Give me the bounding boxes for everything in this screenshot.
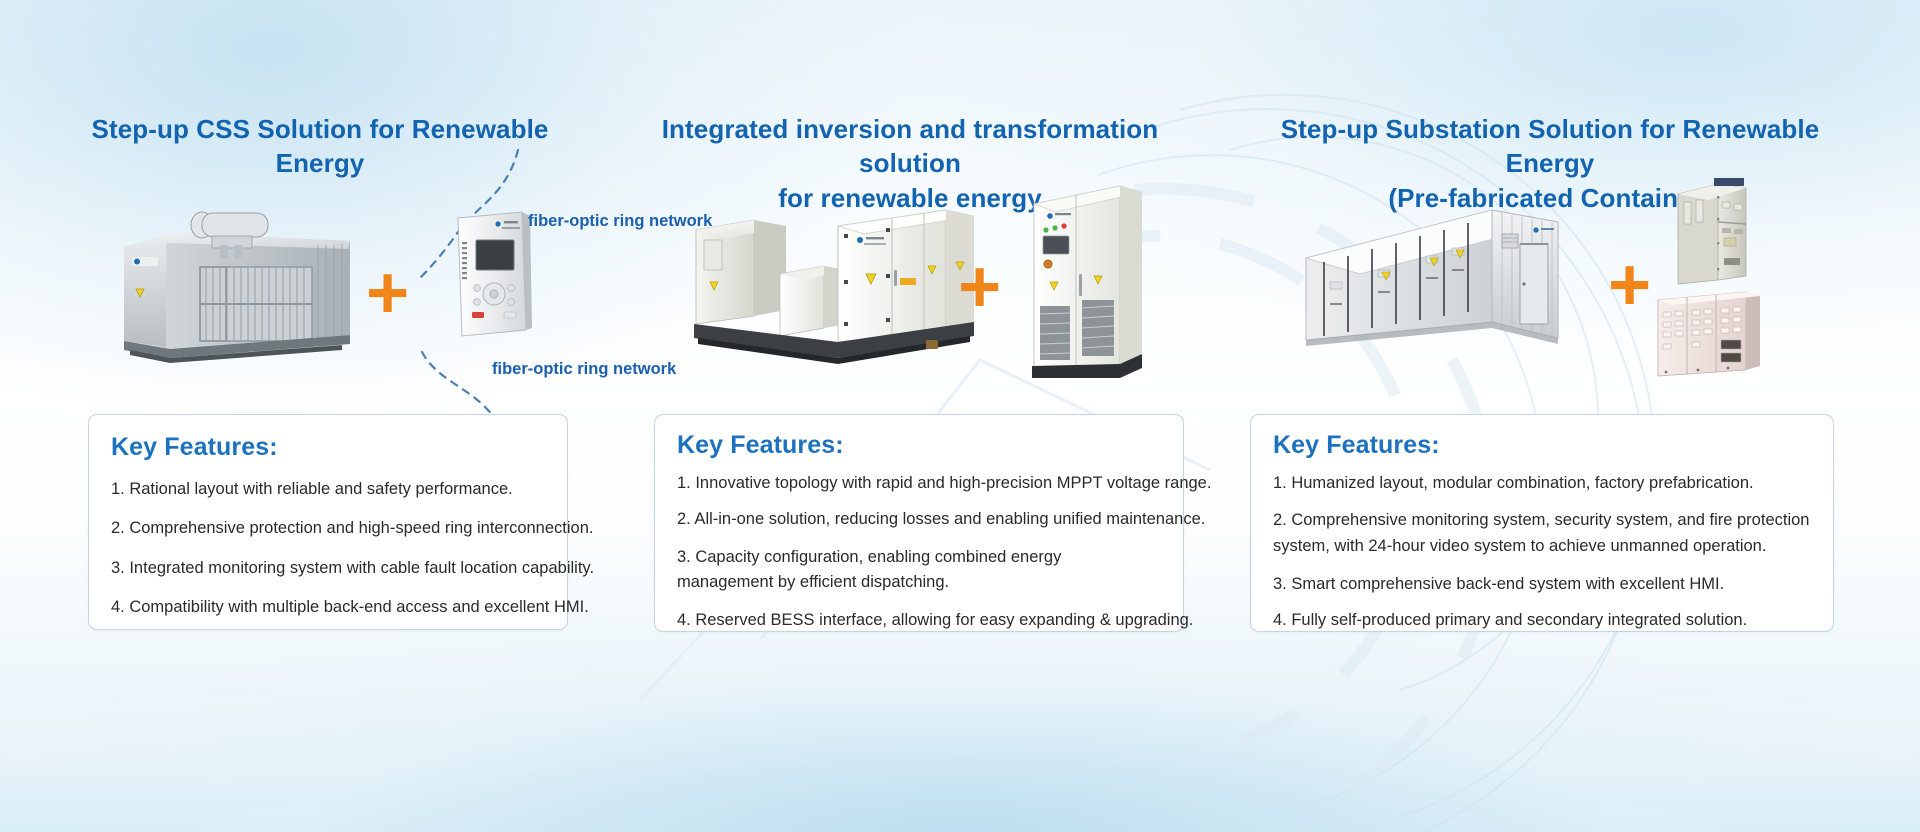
compact-secondary-substation-photo — [112, 205, 372, 375]
feature-item: 4. Compatibility with multiple back-end … — [111, 596, 545, 619]
plus-sign-column-2: + — [958, 250, 1001, 324]
plus-sign-column-1: + — [366, 256, 409, 330]
feature-item: 1. Rational layout with reliable and saf… — [111, 478, 545, 501]
mv-switchgear-cabinet-photo — [1670, 172, 1756, 290]
feature-item: 3. Capacity configuration, enabling comb… — [677, 545, 1161, 596]
feature-item: 1. Innovative topology with rapid and hi… — [677, 472, 1161, 495]
key-features-heading-3: Key Features: — [1273, 431, 1833, 460]
slide-canvas: Step-up CSS Solution for Renewable Energ… — [0, 0, 1920, 832]
lv-control-panel-photo — [1654, 288, 1766, 380]
feature-item: 4. Fully self-produced primary and secon… — [1273, 609, 1813, 632]
feature-item: 3. Integrated monitoring system with cab… — [111, 557, 545, 580]
column-step-up-css: Step-up CSS Solution for Renewable Energ… — [40, 0, 600, 832]
column-2-title-line-1: Integrated inversion and transformation … — [662, 114, 1159, 178]
key-features-card-3: Key Features: 1. Humanized layout, modul… — [1250, 414, 1834, 632]
feature-item: 4. Reserved BESS interface, allowing for… — [677, 609, 1161, 632]
column-integrated-inversion: Integrated inversion and transformation … — [630, 0, 1190, 832]
key-features-card-1: Key Features: 1. Rational layout with re… — [88, 414, 568, 630]
integrated-inversion-transformation-skid-photo — [688, 182, 978, 382]
key-features-card-2: Key Features: 1. Innovative topology wit… — [654, 414, 1184, 632]
key-features-heading-1: Key Features: — [111, 433, 567, 462]
feature-item: 1. Humanized layout, modular combination… — [1273, 472, 1813, 495]
protection-relay-panel-photo — [452, 208, 534, 340]
plus-sign-column-3: + — [1608, 248, 1651, 322]
feature-item: 2. Comprehensive monitoring system, secu… — [1273, 508, 1813, 559]
column-1-title: Step-up CSS Solution for Renewable Energ… — [60, 112, 580, 181]
prefabricated-container-substation-photo — [1296, 188, 1586, 368]
feature-item: 3. Smart comprehensive back-end system w… — [1273, 573, 1813, 596]
column-step-up-substation: Step-up Substation Solution for Renewabl… — [1250, 0, 1850, 832]
key-features-heading-2: Key Features: — [677, 431, 1183, 460]
feature-item: 2. Comprehensive protection and high-spe… — [111, 517, 545, 540]
inverter-cabinet-photo — [1024, 178, 1150, 384]
feature-item: 2. All-in-one solution, reducing losses … — [677, 508, 1161, 531]
column-3-title-line-1: Step-up Substation Solution for Renewabl… — [1281, 114, 1820, 178]
